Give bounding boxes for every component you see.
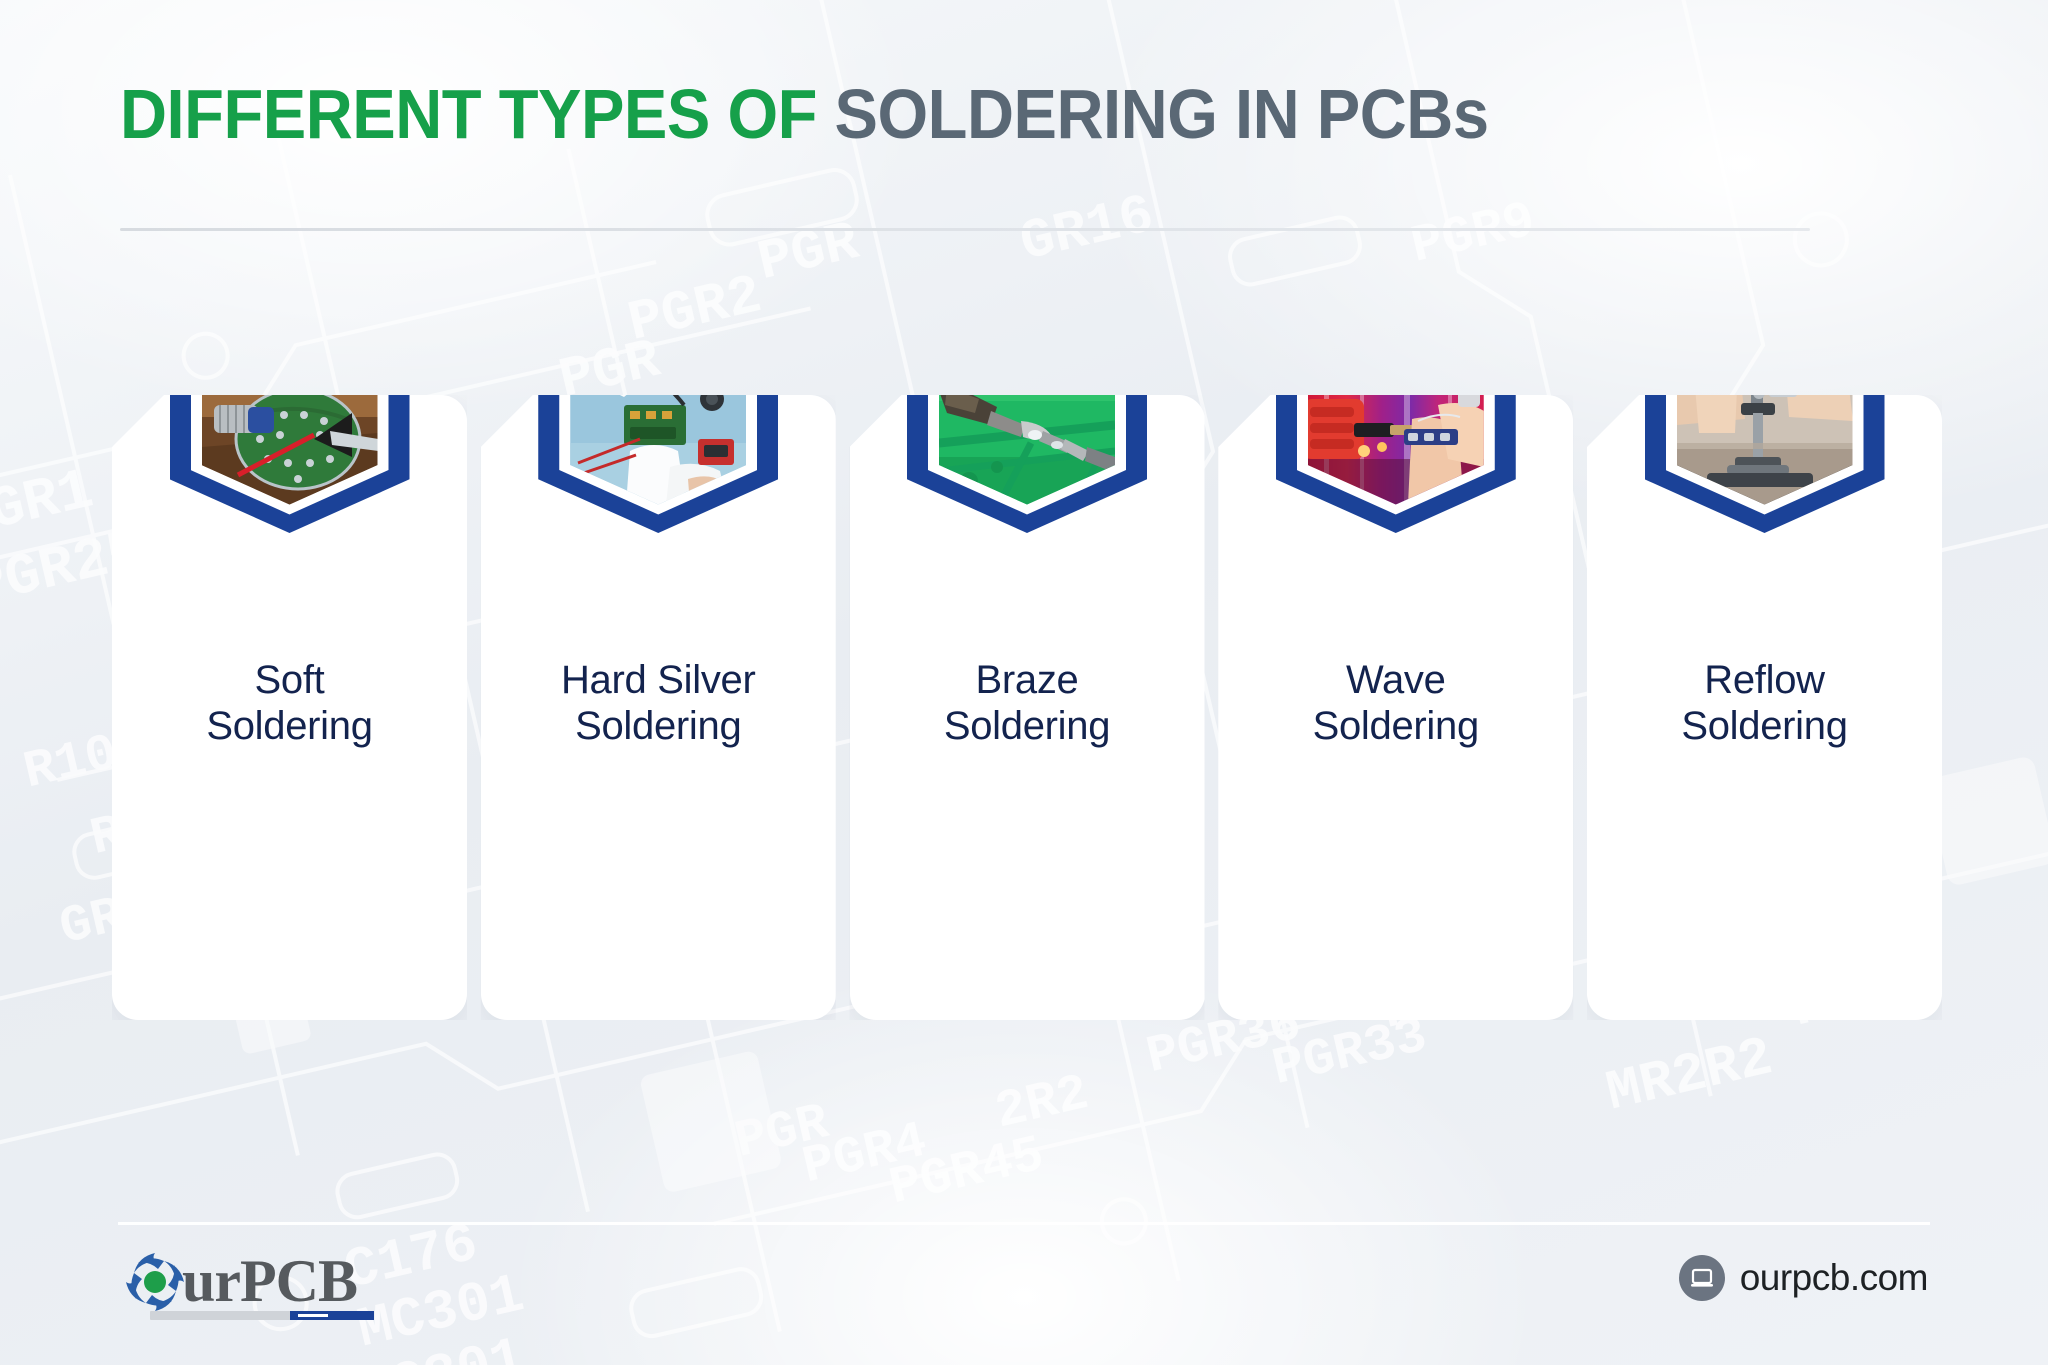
card-label: Braze Soldering (864, 657, 1191, 750)
svg-text:2R2: 2R2 (990, 1064, 1094, 1143)
card-label: Wave Soldering (1232, 657, 1559, 750)
website-label: ourpcb.com (1740, 1257, 1928, 1299)
card-soft-soldering[interactable]: Soft Soldering (112, 395, 467, 1020)
logo-underline-bar (150, 1311, 374, 1320)
page-title: DIFFERENT TYPES OF SOLDERING IN PCBs (120, 78, 1930, 152)
svg-text:R10: R10 (18, 724, 122, 803)
page-title-gray: SOLDERING IN PCBs (835, 75, 1489, 153)
logo-underline-accent (290, 1311, 374, 1320)
svg-text:MR2R2: MR2R2 (1601, 1025, 1779, 1125)
card-label: Soft Soldering (126, 657, 453, 750)
svg-text:PGR9: PGR9 (1406, 191, 1541, 277)
ourpcb-logo-text: urPCB (182, 1247, 357, 1316)
card-braze-soldering[interactable]: Braze Soldering (850, 395, 1205, 1020)
card-wave-soldering[interactable]: Wave Soldering (1218, 395, 1573, 1020)
ourpcb-swirl-icon (122, 1249, 188, 1315)
card-hard-silver-soldering[interactable]: Hard Silver Soldering (481, 395, 836, 1020)
svg-text:PGR: PGR (752, 210, 865, 295)
title-divider (120, 228, 1810, 231)
website-link[interactable]: ourpcb.com (1679, 1255, 1928, 1301)
page-title-green: DIFFERENT TYPES OF (120, 75, 835, 153)
monitor-icon (1679, 1255, 1725, 1301)
ourpcb-logo[interactable]: urPCB (122, 1247, 382, 1322)
svg-text:PGR2: PGR2 (622, 263, 767, 356)
card-label: Hard Silver Soldering (495, 657, 822, 750)
soldering-types-card-row: Soft Soldering (112, 395, 1942, 1020)
card-reflow-soldering[interactable]: Reflow Soldering (1587, 395, 1942, 1020)
card-label: Reflow Soldering (1601, 657, 1928, 750)
footer-divider (118, 1222, 1930, 1225)
